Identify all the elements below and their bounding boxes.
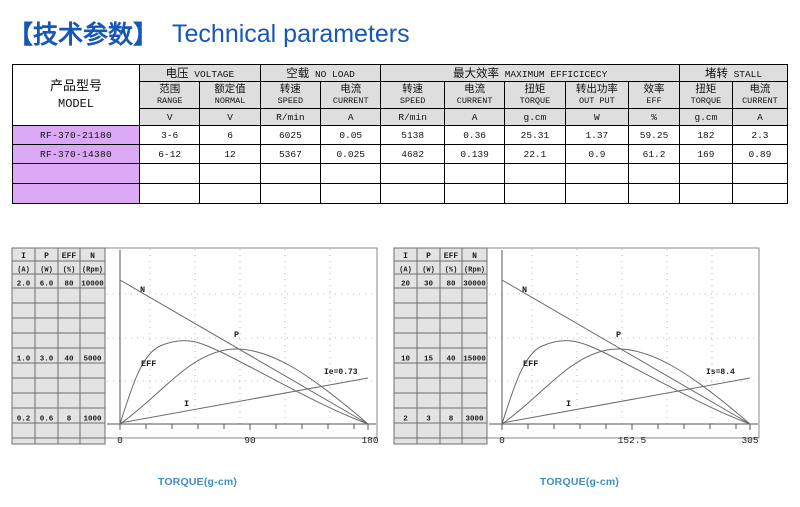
legend-symbol-I: I: [21, 252, 26, 261]
subheader-eff-torque-cn: 扭矩: [524, 83, 545, 95]
legend-mid-N: 5000: [83, 356, 102, 364]
subheader-noload-speed-cn: 转速: [280, 83, 301, 95]
legend-top-EFF: 80: [64, 281, 74, 289]
subheader-voltage-range-cn: 范围: [159, 83, 180, 95]
subheader-stall-torque: 扭矩 TORQUE: [679, 82, 732, 109]
row0-cell4: 5138: [381, 126, 445, 145]
group-header-max-efficiency: 最大效率 MAXIMUM EFFICICECY: [381, 65, 680, 82]
curve-label-N: N: [522, 285, 527, 295]
subheader-voltage-range-en: RANGE: [157, 96, 183, 106]
subheader-voltage-normal: 额定值 NORMAL: [200, 82, 260, 109]
x-tick-2: 305: [741, 435, 758, 446]
performance-chart-left: I P EFF N (A) (W) (%) (Rpm) 2.0 6.0 80 1…: [10, 246, 385, 496]
row3-cell7: [565, 184, 629, 204]
subheader-eff-torque-en: TORQUE: [520, 96, 551, 106]
row1-cell9: 169: [679, 145, 732, 164]
model-header-en: MODEL: [13, 96, 139, 112]
page-title: 【技术参数】 Technical parameters: [8, 14, 788, 54]
group-no-load-en: NO LOAD: [315, 69, 355, 80]
curve-label-I: I: [184, 399, 189, 409]
unit-cell-6: g.cm: [505, 109, 565, 126]
legend-symbol-P: P: [44, 252, 49, 261]
unit-cell-3: A: [321, 109, 381, 126]
subheader-noload-speed: 转速 SPEED: [260, 82, 320, 109]
subheader-eff-speed-en: SPEED: [400, 96, 426, 106]
curve-label-EFF: EFF: [141, 359, 156, 369]
row1-cell0: 6-12: [140, 145, 200, 164]
group-stall-cn: 堵转: [705, 66, 728, 80]
model-header-cn: 产品型号: [13, 78, 139, 96]
group-max-efficiency-en: MAXIMUM EFFICICECY: [505, 69, 608, 80]
specification-table: 产品型号 MODEL 电压 VOLTAGE 空载 NO LOAD 最大效率 MA…: [12, 64, 788, 204]
row3-cell9: [679, 184, 732, 204]
legend-top-I: 20: [401, 281, 411, 289]
subheader-eff-current-cn: 电流: [464, 83, 485, 95]
performance-chart-right: I P EFF N (A) (W) (%) (Rpm) 20 30 80 300…: [392, 246, 767, 496]
subheader-eff-current-en: CURRENT: [457, 96, 493, 106]
legend-unit-N: (Rpm): [464, 267, 485, 275]
subheader-voltage-normal-cn: 额定值: [214, 83, 246, 95]
row1-cell5: 0.139: [444, 145, 504, 164]
legend-bot-P: 3: [426, 416, 431, 424]
legend-mid-P: 15: [424, 356, 434, 364]
legend-top-I: 2.0: [17, 281, 31, 289]
row-model-name: RF-370-21180: [13, 126, 140, 145]
row3-cell8: [629, 184, 680, 204]
legend-symbol-EFF: EFF: [62, 252, 77, 261]
table-model-header-cell: 产品型号 MODEL: [13, 65, 140, 126]
chart-right-annotation: Is=8.4: [706, 368, 735, 377]
curve-label-I: I: [566, 399, 571, 409]
row-model-name: [13, 164, 140, 184]
unit-cell-9: g.cm: [679, 109, 732, 126]
row0-cell2: 6025: [260, 126, 320, 145]
row0-cell8: 59.25: [629, 126, 680, 145]
legend-top-N: 30000: [463, 281, 486, 289]
curve-label-P: P: [234, 330, 239, 340]
subheader-voltage-normal-en: NORMAL: [215, 96, 246, 106]
row-model-name: [13, 184, 140, 204]
row3-cell5: [444, 184, 504, 204]
subheader-stall-torque-cn: 扭矩: [695, 83, 716, 95]
row2-cell9: [679, 164, 732, 184]
legend-bot-EFF: 8: [67, 416, 72, 424]
row1-cell3: 0.025: [321, 145, 381, 164]
unit-cell-4: R/min: [381, 109, 445, 126]
group-voltage-cn: 电压: [166, 66, 189, 80]
row2-cell5: [444, 164, 504, 184]
x-tick-1: 152.5: [618, 435, 647, 446]
row2-cell1: [200, 164, 260, 184]
group-header-no-load: 空载 NO LOAD: [260, 65, 381, 82]
legend-unit-EFF: (%): [63, 267, 76, 275]
legend-unit-EFF: (%): [445, 267, 458, 275]
row0-cell6: 25.31: [505, 126, 565, 145]
chart-right-x-axis-title: TORQUE(g-cm): [392, 476, 767, 488]
row2-cell0: [140, 164, 200, 184]
subheader-noload-current: 电流 CURRENT: [321, 82, 381, 109]
row1-cell1: 12: [200, 145, 260, 164]
legend-unit-I: (A): [17, 267, 30, 275]
legend-top-N: 10000: [81, 281, 104, 289]
row3-cell3: [321, 184, 381, 204]
row2-cell2: [260, 164, 320, 184]
row0-cell0: 3-6: [140, 126, 200, 145]
x-tick-0: 0: [117, 435, 123, 446]
legend-top-EFF: 80: [446, 281, 456, 289]
row3-cell2: [260, 184, 320, 204]
chart-right-svg: I P EFF N (A) (W) (%) (Rpm) 20 30 80 300…: [392, 246, 767, 456]
x-tick-1: 90: [244, 435, 256, 446]
row1-cell2: 5367: [260, 145, 320, 164]
row1-cell4: 4682: [381, 145, 445, 164]
legend-unit-I: (A): [399, 267, 412, 275]
subheader-stall-current: 电流 CURRENT: [732, 82, 787, 109]
page-title-chinese: 【技术参数】: [8, 22, 158, 47]
row0-cell7: 1.37: [565, 126, 629, 145]
legend-bot-I: 0.2: [17, 416, 31, 424]
row1-cell10: 0.89: [732, 145, 787, 164]
legend-unit-P: (W): [422, 267, 435, 275]
page-title-english: Technical parameters: [172, 22, 410, 47]
subheader-noload-current-cn: 电流: [340, 83, 361, 95]
table-row[interactable]: [13, 164, 788, 184]
subheader-eff-speed: 转速 SPEED: [381, 82, 445, 109]
row0-cell1: 6: [200, 126, 260, 145]
row2-cell6: [505, 164, 565, 184]
row3-cell1: [200, 184, 260, 204]
row3-cell4: [381, 184, 445, 204]
subheader-eff-current: 电流 CURRENT: [444, 82, 504, 109]
unit-cell-0: V: [140, 109, 200, 126]
legend-symbol-N: N: [472, 252, 477, 261]
legend-bot-EFF: 8: [449, 416, 454, 424]
table-group-header-row: 产品型号 MODEL 电压 VOLTAGE 空载 NO LOAD 最大效率 MA…: [13, 65, 788, 82]
row0-cell5: 0.36: [444, 126, 504, 145]
row0-cell10: 2.3: [732, 126, 787, 145]
chart-left-x-axis-title: TORQUE(g-cm): [10, 476, 385, 488]
x-tick-0: 0: [499, 435, 505, 446]
legend-symbol-N: N: [90, 252, 95, 261]
unit-cell-10: A: [732, 109, 787, 126]
legend-top-P: 6.0: [40, 281, 54, 289]
row0-cell3: 0.05: [321, 126, 381, 145]
subheader-eff-output: 转出功率 OUT PUT: [565, 82, 629, 109]
legend-mid-EFF: 40: [446, 356, 456, 364]
unit-cell-2: R/min: [260, 109, 320, 126]
legend-symbol-I: I: [403, 252, 408, 261]
subheader-stall-current-cn: 电流: [749, 83, 770, 95]
legend-bot-I: 2: [403, 416, 408, 424]
unit-cell-7: W: [565, 109, 629, 126]
row2-cell3: [321, 164, 381, 184]
row3-cell0: [140, 184, 200, 204]
legend-symbol-P: P: [426, 252, 431, 261]
subheader-noload-speed-en: SPEED: [278, 96, 304, 106]
row1-cell7: 0.9: [565, 145, 629, 164]
subheader-eff-output-en: OUT PUT: [579, 96, 615, 106]
row0-cell9: 182: [679, 126, 732, 145]
unit-cell-8: %: [629, 109, 680, 126]
legend-bot-N: 3000: [465, 416, 484, 424]
legend-unit-P: (W): [40, 267, 53, 275]
row2-cell7: [565, 164, 629, 184]
legend-mid-I: 10: [401, 356, 411, 364]
subheader-eff-eff: 效率 EFF: [629, 82, 680, 109]
group-stall-en: STALL: [734, 69, 763, 80]
group-max-efficiency-cn: 最大效率: [453, 66, 499, 80]
subheader-noload-current-en: CURRENT: [333, 96, 369, 106]
legend-symbol-EFF: EFF: [444, 252, 459, 261]
group-header-stall: 堵转 STALL: [679, 65, 787, 82]
row-model-name: RF-370-14380: [13, 145, 140, 164]
subheader-stall-current-en: CURRENT: [742, 96, 778, 106]
row2-cell4: [381, 164, 445, 184]
group-header-voltage: 电压 VOLTAGE: [140, 65, 261, 82]
group-no-load-cn: 空载: [286, 66, 309, 80]
curve-label-N: N: [140, 285, 145, 295]
legend-bot-P: 0.6: [40, 416, 54, 424]
subheader-voltage-range: 范围 RANGE: [140, 82, 200, 109]
row3-cell10: [732, 184, 787, 204]
legend-mid-I: 1.0: [17, 356, 31, 364]
row3-cell6: [505, 184, 565, 204]
curve-label-P: P: [616, 330, 621, 340]
table-row[interactable]: RF-370-14380 6-12 12 5367 0.025 4682 0.1…: [13, 145, 788, 164]
legend-top-P: 30: [424, 281, 434, 289]
row1-cell6: 22.1: [505, 145, 565, 164]
unit-cell-5: A: [444, 109, 504, 126]
group-voltage-en: VOLTAGE: [194, 69, 234, 80]
legend-mid-EFF: 40: [64, 356, 74, 364]
x-tick-2: 180: [361, 435, 378, 446]
legend-mid-P: 3.0: [40, 356, 54, 364]
subheader-eff-eff-en: EFF: [646, 96, 661, 106]
subheader-eff-speed-cn: 转速: [402, 83, 423, 95]
legend-unit-N: (Rpm): [82, 267, 103, 275]
legend-bot-N: 1000: [83, 416, 102, 424]
subheader-eff-eff-cn: 效率: [644, 83, 665, 95]
unit-cell-1: V: [200, 109, 260, 126]
subheader-stall-torque-en: TORQUE: [691, 96, 722, 106]
subheader-eff-torque: 扭矩 TORQUE: [505, 82, 565, 109]
legend-mid-N: 15000: [463, 356, 486, 364]
row2-cell10: [732, 164, 787, 184]
chart-left-svg: I P EFF N (A) (W) (%) (Rpm) 2.0 6.0 80 1…: [10, 246, 385, 456]
row1-cell8: 61.2: [629, 145, 680, 164]
chart-left-annotation: Ie=0.73: [324, 368, 358, 377]
subheader-eff-output-cn: 转出功率: [576, 83, 618, 95]
table-row[interactable]: [13, 184, 788, 204]
curve-label-EFF: EFF: [523, 359, 538, 369]
row2-cell8: [629, 164, 680, 184]
table-row[interactable]: RF-370-21180 3-6 6 6025 0.05 5138 0.36 2…: [13, 126, 788, 145]
